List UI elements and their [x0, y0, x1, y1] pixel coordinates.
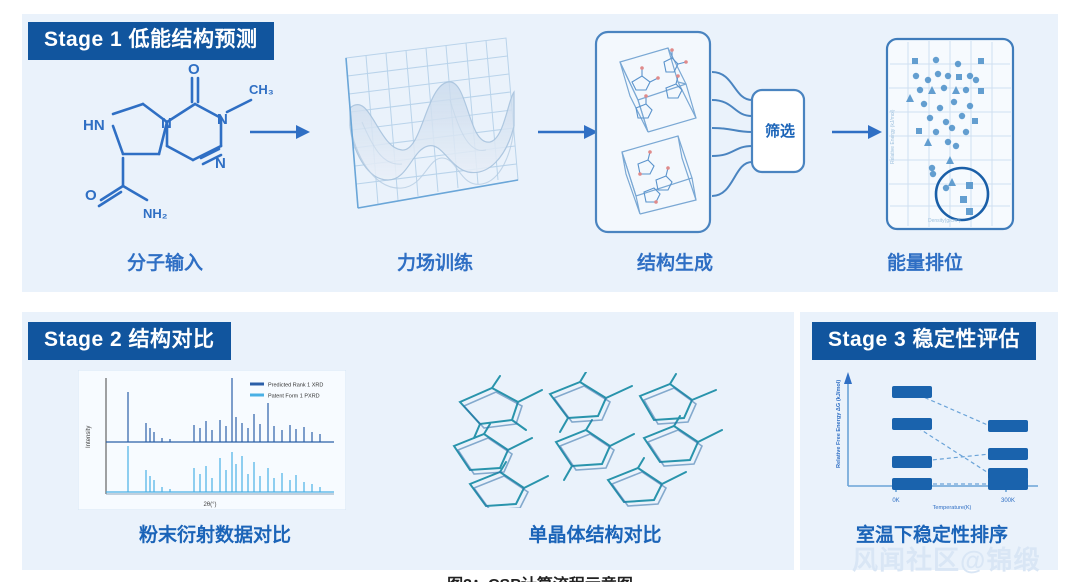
structure-generation-diagram — [592, 28, 814, 240]
atom-label-hn: HN — [83, 117, 105, 134]
stability-xtick-300k: 300K — [1001, 498, 1015, 504]
energy-landscape-3d — [318, 30, 534, 240]
step-caption-forcefield-training: 力场训练 — [330, 248, 540, 275]
stability-xlabel: Temperature(K) — [933, 505, 972, 510]
stability-ylabel: Relative Free Energy ΔG (kJ/mol) — [836, 380, 842, 468]
energy-ranking-scatter-chart: Relative Energy (kJ/mol) Density(g/cm³) — [884, 36, 1016, 232]
figure-caption: 图3：CSP计算流程示意图 — [0, 571, 1080, 582]
caption-single-crystal-compare: 单晶体结构对比 — [460, 520, 730, 547]
atom-label-n3: N — [215, 155, 226, 172]
legend-label-predicted: Predicted Rank 1 XRD — [268, 383, 323, 389]
caption-pxrd-compare: 粉末衍射数据对比 — [80, 520, 350, 547]
stage3-badge: Stage 3 稳定性评估 — [812, 322, 1036, 360]
stability-ranking-chart: Relative Free Energy ΔG (kJ/mol) 0K 300K… — [812, 368, 1044, 510]
atom-label-n1: N — [161, 115, 172, 132]
stability-connectors — [912, 392, 990, 484]
pxrd-comparison-chart: Predicted Rank 1 XRD Patent Form 1 PXRD … — [78, 370, 346, 510]
atom-label-ch3: CH₃ — [249, 82, 274, 97]
legend-label-patent: Patent Form 1 PXRD — [268, 394, 320, 400]
step-caption-structure-generation: 结构生成 — [580, 248, 770, 275]
stage2-badge: Stage 2 结构对比 — [28, 322, 231, 360]
pxrd-xlabel: 2θ(°) — [203, 502, 216, 508]
arrow-right-icon-2 — [536, 120, 598, 144]
arrow-right-icon-1 — [248, 120, 310, 144]
arrow-right-icon-3 — [830, 120, 882, 144]
screening-box — [752, 90, 804, 172]
step-caption-energy-ranking: 能量排位 — [830, 248, 1020, 275]
single-crystal-overlay-diagram — [430, 372, 750, 508]
pxrd-ylabel: Intensity — [86, 426, 92, 448]
step-caption-molecule-input: 分子输入 — [70, 248, 260, 275]
stability-xtick-0k: 0K — [892, 498, 899, 504]
atom-label-n2: N — [217, 111, 228, 128]
scatter-ylabel: Relative Energy (kJ/mol) — [890, 109, 896, 164]
figure-root: Stage 1 低能结构预测 — [0, 0, 1080, 582]
atom-label-o-top: O — [188, 61, 200, 78]
stability-level-bars — [892, 386, 1028, 490]
atom-label-o-bottom: O — [85, 187, 97, 204]
atom-label-nh2: NH₂ — [143, 206, 168, 221]
scatter-xlabel: Density(g/cm³) — [928, 218, 961, 224]
